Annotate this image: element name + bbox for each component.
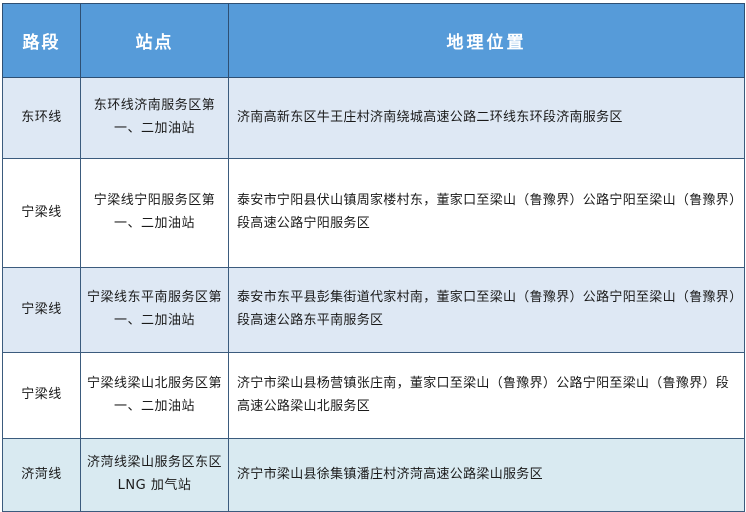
column-header-road: 路段 [3,4,81,78]
cell-road: 济菏线 [3,439,81,512]
table-header: 路段 站点 地理位置 [3,4,745,78]
table-row: 济菏线 济菏线梁山服务区东区 LNG 加气站 济宁市梁山县徐集镇潘庄村济菏高速公… [3,439,745,512]
table-body: 东环线 东环线济南服务区第一、二加油站 济南高新东区牛王庄村济南绕城高速公路二环… [3,78,745,512]
cell-site: 济菏线梁山服务区东区 LNG 加气站 [81,439,229,512]
cell-site: 东环线济南服务区第一、二加油站 [81,78,229,159]
cell-geo: 济宁市梁山县徐集镇潘庄村济菏高速公路梁山服务区 [229,439,745,512]
column-header-geo: 地理位置 [229,4,745,78]
table-container: 路段 站点 地理位置 东环线 东环线济南服务区第一、二加油站 济南高新东区牛王庄… [0,0,746,473]
header-row: 路段 站点 地理位置 [3,4,745,78]
cell-geo: 泰安市宁阳县伏山镇周家楼村东，董家口至梁山（鲁豫界）公路宁阳至梁山（鲁豫界）段高… [229,159,745,268]
table-row: 东环线 东环线济南服务区第一、二加油站 济南高新东区牛王庄村济南绕城高速公路二环… [3,78,745,159]
cell-road: 东环线 [3,78,81,159]
cell-geo: 济南高新东区牛王庄村济南绕城高速公路二环线东环段济南服务区 [229,78,745,159]
column-header-site: 站点 [81,4,229,78]
cell-site: 宁梁线东平南服务区第一、二加油站 [81,268,229,353]
service-area-table: 路段 站点 地理位置 东环线 东环线济南服务区第一、二加油站 济南高新东区牛王庄… [2,3,745,512]
cell-site: 宁梁线宁阳服务区第一、二加油站 [81,159,229,268]
cell-geo: 济宁市梁山县杨营镇张庄南，董家口至梁山（鲁豫界）公路宁阳至梁山（鲁豫界）段高速公… [229,353,745,439]
cell-road: 宁梁线 [3,159,81,268]
table-row: 宁梁线 宁梁线宁阳服务区第一、二加油站 泰安市宁阳县伏山镇周家楼村东，董家口至梁… [3,159,745,268]
cell-road: 宁梁线 [3,353,81,439]
cell-geo: 泰安市东平县彭集街道代家村南，董家口至梁山（鲁豫界）公路宁阳至梁山（鲁豫界）段高… [229,268,745,353]
table-row: 宁梁线 宁梁线梁山北服务区第一、二加油站 济宁市梁山县杨营镇张庄南，董家口至梁山… [3,353,745,439]
cell-site: 宁梁线梁山北服务区第一、二加油站 [81,353,229,439]
cell-road: 宁梁线 [3,268,81,353]
table-row: 宁梁线 宁梁线东平南服务区第一、二加油站 泰安市东平县彭集街道代家村南，董家口至… [3,268,745,353]
